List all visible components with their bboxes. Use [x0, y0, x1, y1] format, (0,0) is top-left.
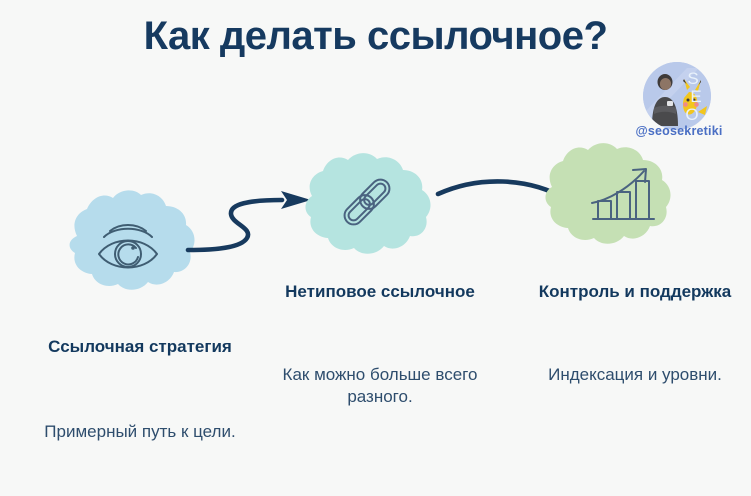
step-2-group [305, 153, 430, 254]
step-2-body: Как можно больше всего разного. [262, 364, 498, 408]
step-3-heading: Контроль и поддержка [521, 281, 749, 304]
arrow-1 [188, 191, 311, 250]
step-1-body: Примерный путь к цели. [10, 421, 270, 443]
step-3-blob [545, 143, 670, 244]
step-3-body: Индексация и уровни. [521, 364, 749, 386]
infographic-canvas: Как делать ссылочное? [0, 0, 751, 496]
step-3-group [545, 143, 670, 244]
step-1-heading: Ссылочная стратегия [10, 336, 270, 359]
step-2-blob [305, 153, 430, 254]
step-2-heading: Нетиповое ссылочное [267, 281, 493, 304]
step-1-group [70, 190, 195, 289]
